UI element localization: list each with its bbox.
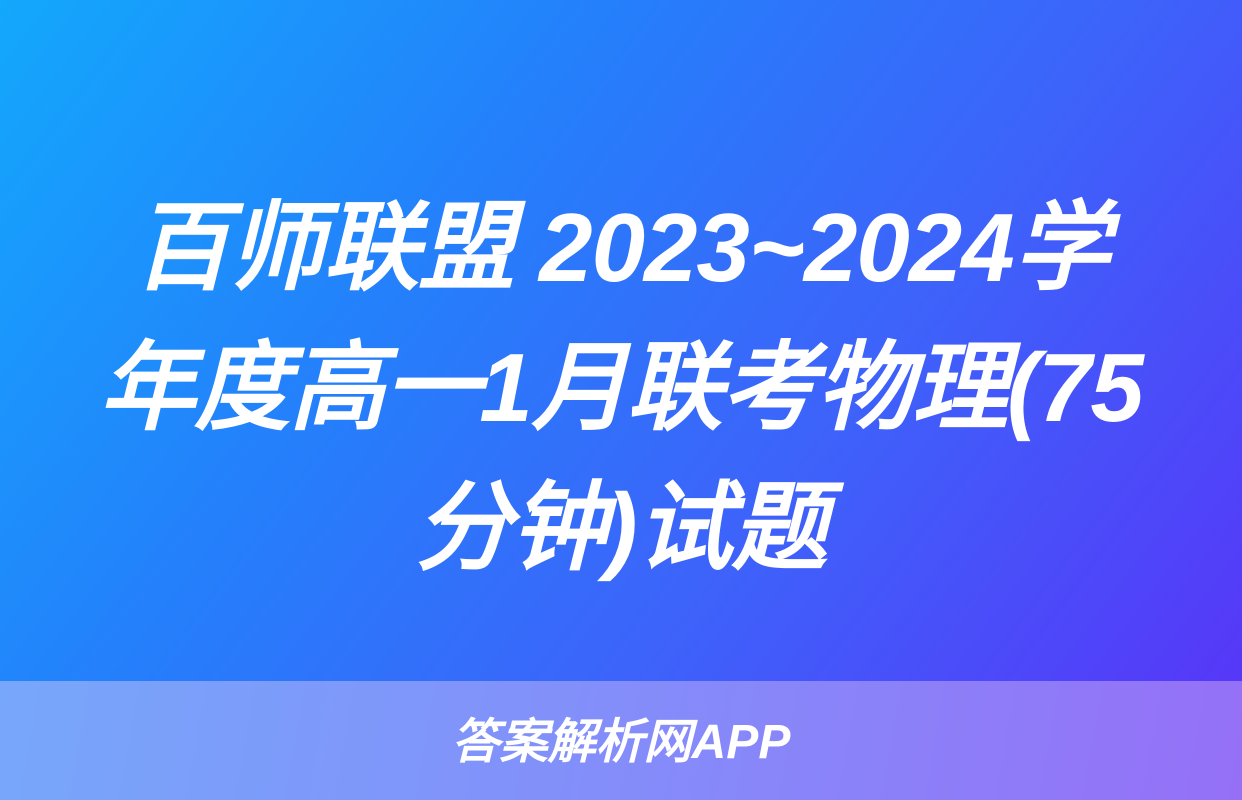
title-block: 百师联盟 2023~2024学 年度高一1月联考物理(75 分钟)试题	[0, 178, 1242, 618]
title-card: 百师联盟 2023~2024学 年度高一1月联考物理(75 分钟)试题 答案解析…	[0, 0, 1242, 800]
title-line-3: 分钟)试题	[72, 458, 1171, 598]
footer-band: 答案解析网APP	[0, 681, 1242, 800]
watermark-label: 答案解析网APP	[452, 717, 791, 769]
title-line-2: 年度高一1月联考物理(75	[72, 318, 1171, 458]
title-line-1: 百师联盟 2023~2024学	[72, 178, 1171, 318]
